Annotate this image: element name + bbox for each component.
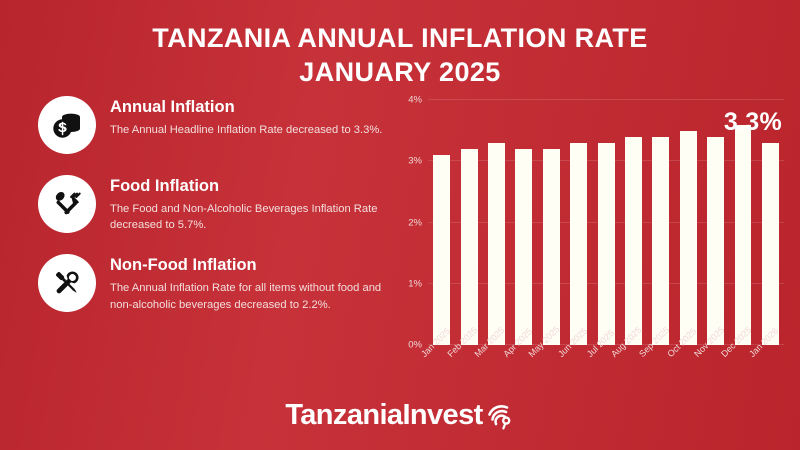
chart-bar[interactable] [680, 131, 697, 345]
y-axis-tick-label: 0% [408, 340, 422, 351]
chart-bar-wrapper [565, 100, 592, 345]
fact-description: The Annual Headline Inflation Rate decre… [110, 122, 382, 138]
coins-dollar-icon [38, 96, 96, 154]
logo-text: TanzaniaInvest [285, 399, 482, 432]
brand-logo: TanzaniaInvest [0, 399, 800, 432]
chart-bar[interactable] [570, 143, 587, 345]
chart-bar[interactable] [707, 137, 724, 345]
chart-bar[interactable] [488, 143, 505, 345]
fact-list: Annual Inflation The Annual Headline Inf… [38, 96, 388, 334]
fact-description: The Food and Non-Alcoholic Beverages Inf… [110, 201, 385, 233]
page-title: TANZANIA ANNUAL INFLATION RATE JANUARY 2… [0, 22, 800, 90]
fact-item-non-food-inflation: Non-Food Inflation The Annual Inflation … [38, 254, 388, 312]
chart-bar[interactable] [461, 149, 478, 345]
chart-bar[interactable] [543, 149, 560, 345]
chart-bar[interactable] [735, 125, 752, 346]
fact-title: Food Inflation [110, 177, 385, 196]
fork-spoon-icon [38, 175, 96, 233]
chart-bar-wrapper [428, 100, 455, 345]
chart-bar[interactable] [433, 155, 450, 345]
chart-bar-wrapper [620, 100, 647, 345]
fact-title: Non-Food Inflation [110, 256, 385, 275]
y-axis-tick-label: 3% [408, 156, 422, 167]
chart-bar[interactable] [515, 149, 532, 345]
chart-bar-wrapper [647, 100, 674, 345]
chart-bar-wrapper [538, 100, 565, 345]
title-line-2: JANUARY 2025 [0, 56, 800, 90]
y-axis-tick-label: 2% [408, 217, 422, 228]
fact-description: The Annual Inflation Rate for all items … [110, 280, 385, 312]
x-axis-label-wrapper: Jan 2026 [757, 350, 784, 394]
fact-item-food-inflation: Food Inflation The Food and Non-Alcoholi… [38, 175, 388, 233]
y-axis-tick-label: 1% [408, 278, 422, 289]
y-axis-tick-label: 4% [408, 95, 422, 106]
chart-bar-wrapper [675, 100, 702, 345]
latest-value-callout: 3.3% [724, 108, 782, 137]
inflation-bar-chart: 0%1%2%3%4% Jan 2025Feb 2025Mar 2025Apr 2… [392, 92, 784, 392]
chart-bar[interactable] [762, 143, 779, 345]
fact-item-annual-inflation: Annual Inflation The Annual Headline Inf… [38, 96, 388, 154]
wrench-screwdriver-icon [38, 254, 96, 312]
chart-bar[interactable] [652, 137, 669, 345]
signal-waves-icon [485, 401, 515, 431]
chart-bar[interactable] [625, 137, 642, 345]
chart-bar-wrapper [455, 100, 482, 345]
title-line-1: TANZANIA ANNUAL INFLATION RATE [152, 23, 647, 53]
chart-bar-wrapper [483, 100, 510, 345]
fact-title: Annual Inflation [110, 98, 382, 117]
x-axis-label-wrapper: Jun 2025 [565, 350, 592, 394]
chart-bar[interactable] [598, 143, 615, 345]
chart-x-axis-labels: Jan 2025Feb 2025Mar 2025Apr 2025May 2025… [428, 350, 784, 394]
chart-bar-wrapper [510, 100, 537, 345]
chart-bar-wrapper [592, 100, 619, 345]
